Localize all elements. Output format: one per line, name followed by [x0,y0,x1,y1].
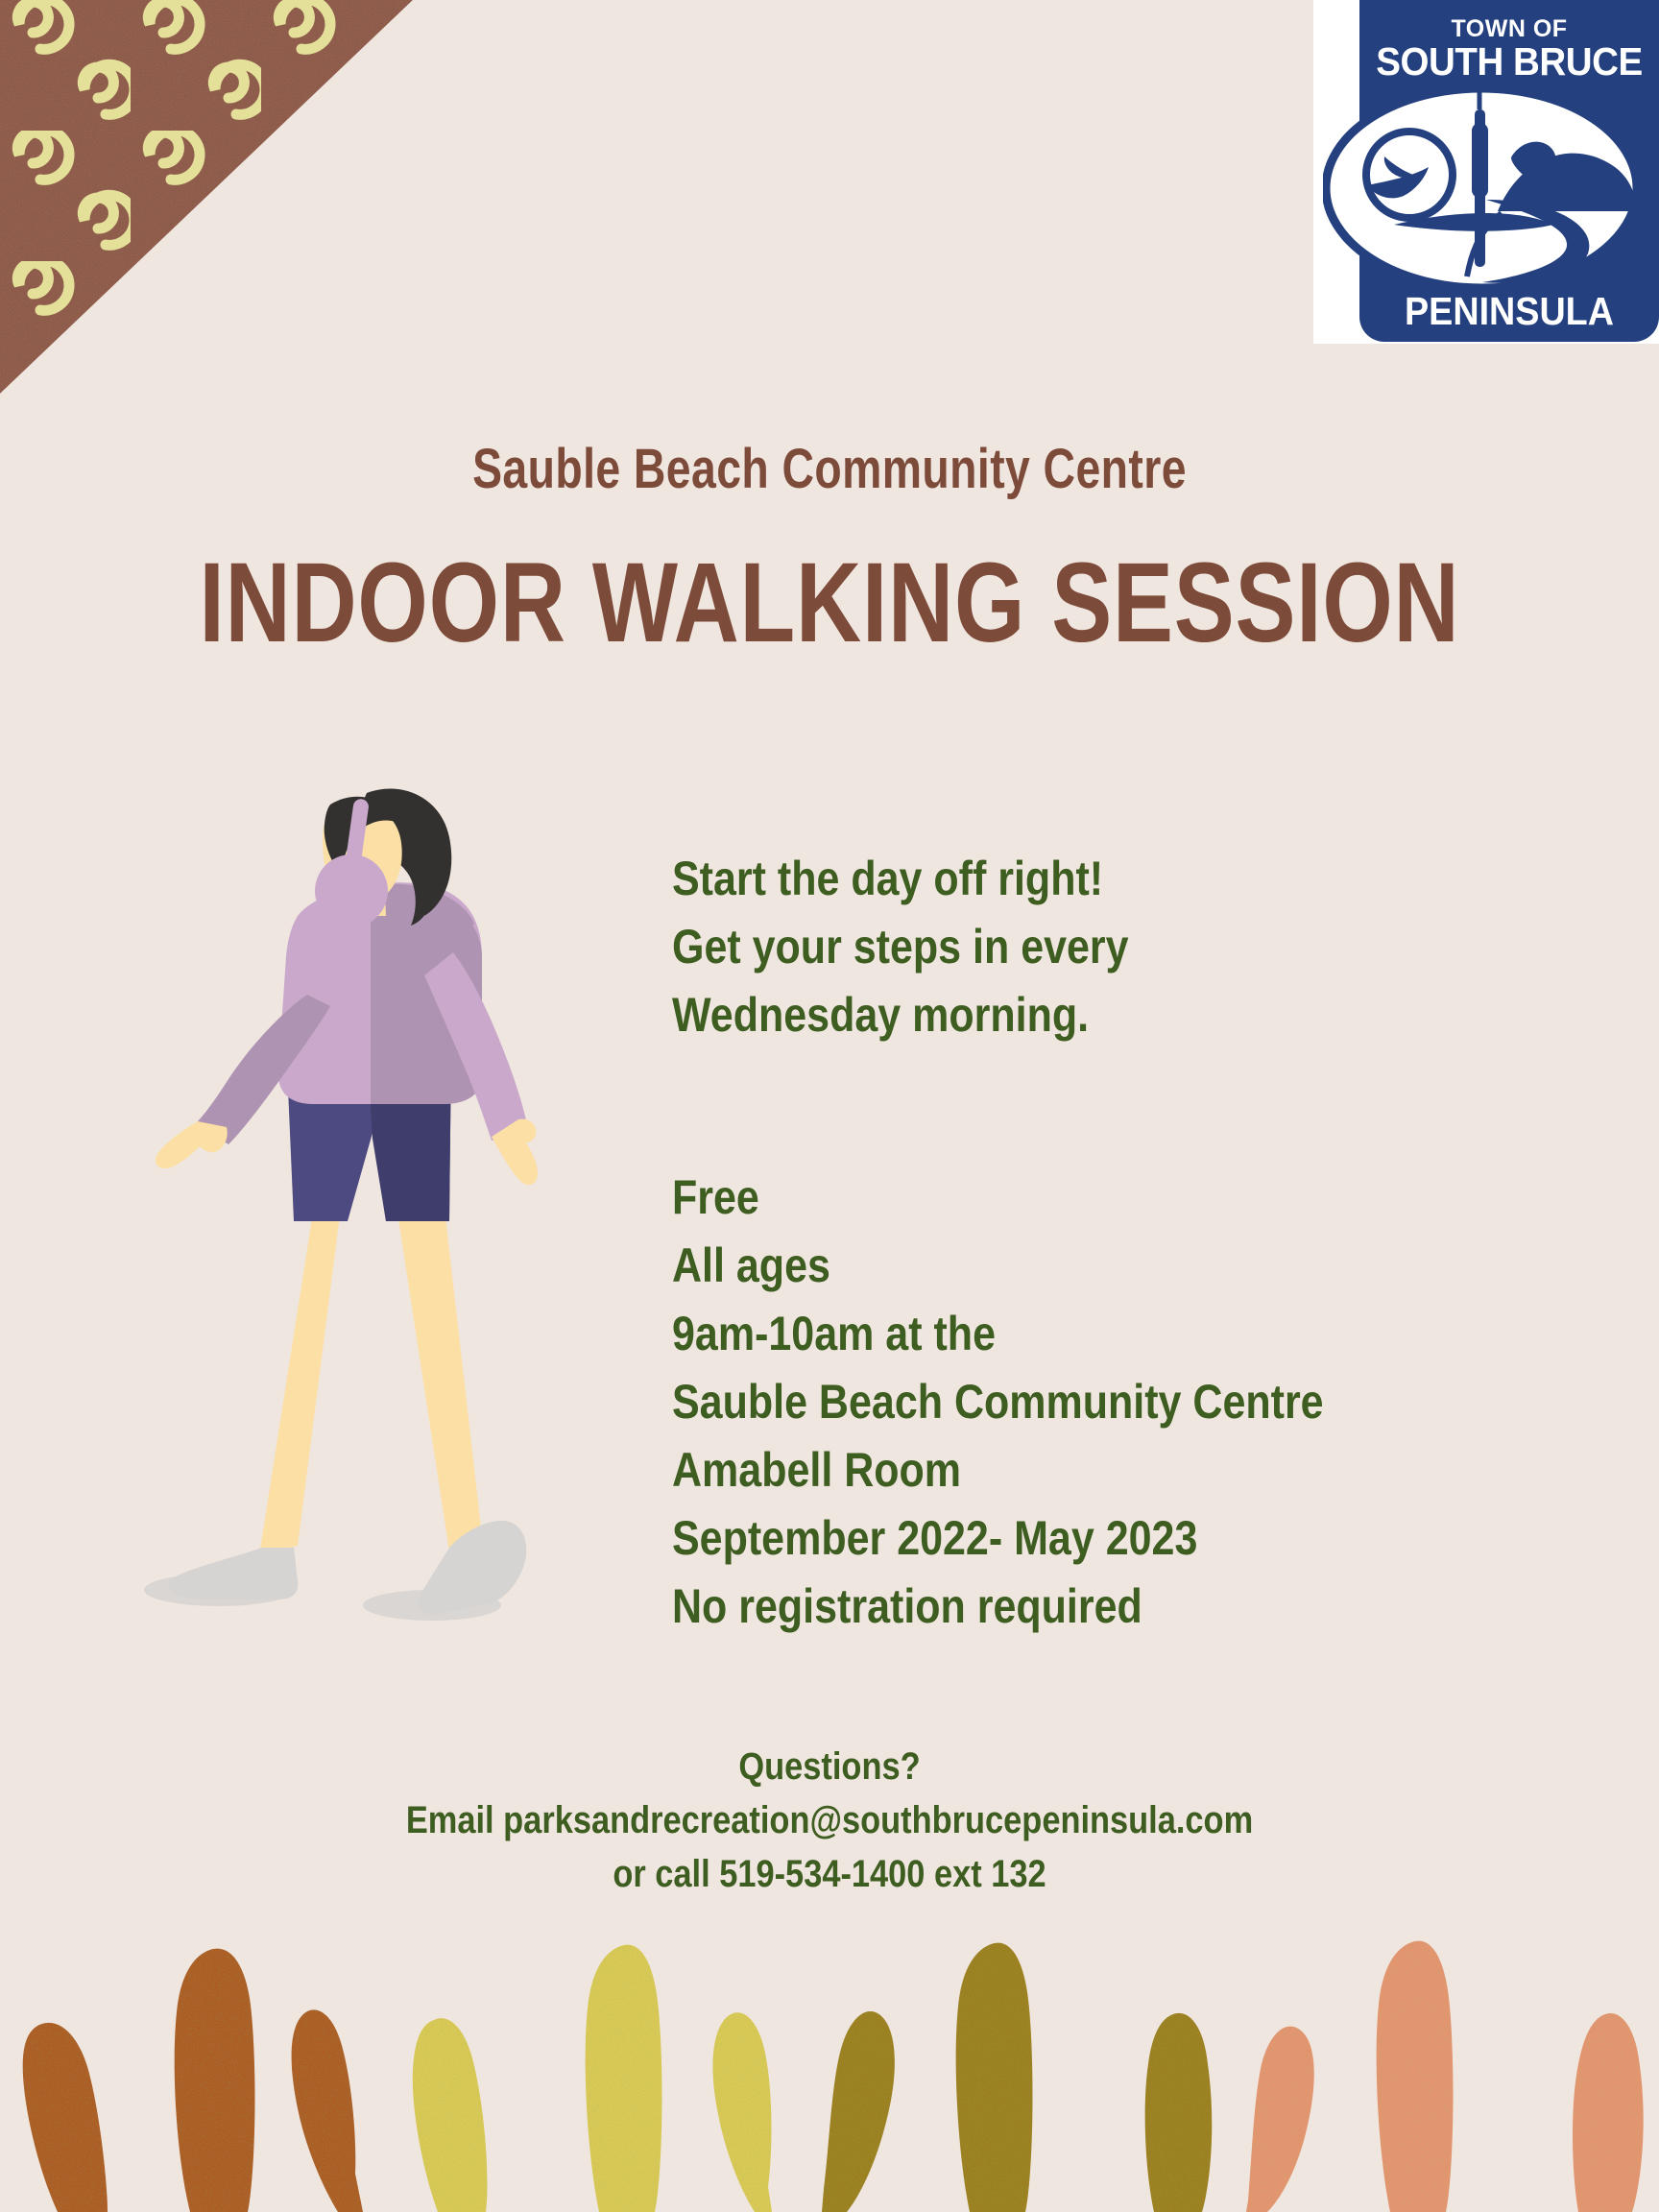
contact-phone: or call 519-534-1400 ext 132 [116,1847,1543,1901]
poster-canvas: TOWN OF SOUTH BRUCE PENINSULA [0,0,1659,2212]
intro-line: Get your steps in every [672,913,1415,981]
page-title: INDOOR WALKING SESSION [166,538,1493,668]
intro-line: Start the day off right! [672,845,1415,913]
walking-woman-illustration [144,787,595,1632]
leaf-cluster-salmon [1246,1941,1644,2212]
intro-line: Wednesday morning. [672,981,1415,1049]
leaf-cluster-rust [23,1949,363,2212]
town-of-south-bruce-peninsula-logo: TOWN OF SOUTH BRUCE PENINSULA [1359,0,1659,342]
contact-email: Email parksandrecreation@southbrucepenin… [116,1793,1543,1847]
contact-questions-label: Questions? [116,1740,1543,1793]
event-details-list: Free All ages 9am-10am at the Sauble Bea… [672,1164,1536,1641]
detail-line: Amabell Room [672,1436,1415,1504]
leaf-cluster-olive [822,1943,1212,2212]
venue-subtitle: Sauble Beach Community Centre [166,437,1493,501]
detail-line: September 2022- May 2023 [672,1504,1415,1573]
leaf-cluster-yellow [413,1945,772,2212]
bottom-leaf-border [0,1895,1659,2212]
intro-text-block: Start the day off right! Get your steps … [672,845,1536,1049]
brown-swirl-corner-triangle [0,0,413,394]
logo-peninsula-label: PENINSULA [1371,289,1647,334]
logo-south-bruce-label: SOUTH BRUCE [1368,39,1649,84]
detail-line: All ages [672,1232,1415,1300]
detail-line: Free [672,1164,1415,1232]
south-bruce-peninsula-emblem [1323,84,1640,292]
detail-line: 9am-10am at the [672,1300,1415,1368]
detail-line: Sauble Beach Community Centre [672,1368,1415,1436]
contact-block: Questions? Email parksandrecreation@sout… [0,1740,1659,1901]
detail-line: No registration required [672,1573,1415,1641]
